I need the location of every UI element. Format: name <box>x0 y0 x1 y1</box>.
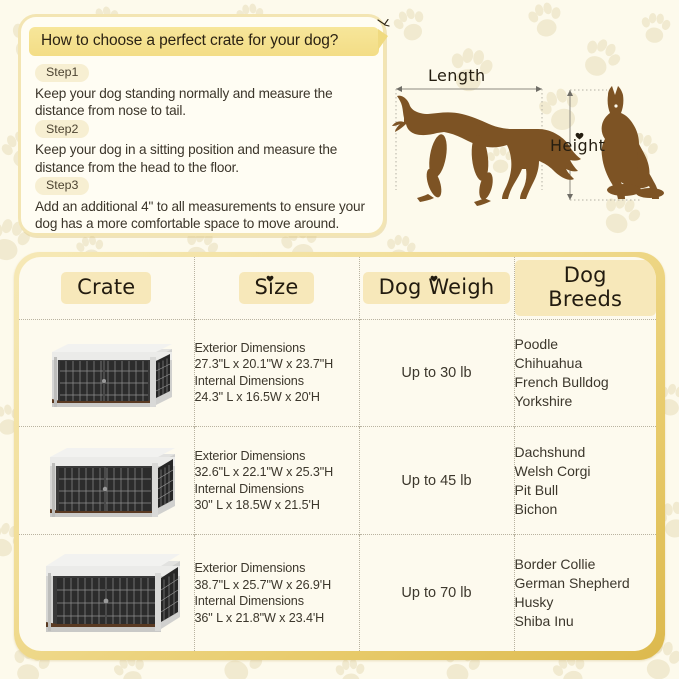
header-cell-crate: Crate <box>19 257 194 319</box>
height-label: Height <box>550 136 605 155</box>
header-cell-size: Size <box>194 257 359 319</box>
breed-item: Pit Bull <box>515 481 657 500</box>
crate-image-cell <box>19 535 194 651</box>
medium-wooden-dog-crate-icon <box>30 435 182 527</box>
step-badge: Step2 <box>35 120 89 138</box>
breeds-cell: Poodle Chihuahua French Bulldog Yorkshir… <box>514 319 656 427</box>
weight-cell: Up to 45 lb <box>359 427 514 535</box>
measurement-diagram: Length Height <box>392 50 670 245</box>
sparkle-icon <box>377 19 391 31</box>
crate-image-cell <box>19 427 194 535</box>
size-line: 27.3"L x 20.1"W x 23.7"H <box>195 356 359 373</box>
breed-item: Dachshund <box>515 443 657 462</box>
breed-item: Husky <box>515 593 657 612</box>
instruction-title: How to choose a perfect crate for your d… <box>29 27 379 56</box>
sitting-dog-silhouette <box>602 86 664 199</box>
crate-spec-table: Crate Size Dog Weigh <box>19 257 656 651</box>
instruction-title-text: How to choose a perfect crate for your d… <box>41 32 338 49</box>
size-line: Internal Dimensions <box>195 373 359 390</box>
table-row: Exterior Dimensions 32.6"L x 22.1"W x 25… <box>19 427 656 535</box>
size-cell: Exterior Dimensions 38.7"L x 25.7"W x 26… <box>194 535 359 651</box>
heart-icon <box>266 275 274 282</box>
step-item: Step1 Keep your dog standing normally an… <box>35 63 369 120</box>
small-wooden-dog-crate-icon <box>30 327 182 419</box>
table-row: Exterior Dimensions 27.3"L x 20.1"W x 23… <box>19 319 656 427</box>
header-pill-breeds: Dog Breeds <box>515 260 657 316</box>
header-cell-weight: Dog Weigh <box>359 257 514 319</box>
header-size-text: Size <box>255 275 299 299</box>
breed-item: French Bulldog <box>515 373 657 392</box>
weight-value: Up to 30 lb <box>401 365 471 381</box>
header-pill-crate: Crate <box>61 272 151 304</box>
heart-icon <box>575 132 584 140</box>
crate-spec-table-wrapper: Crate Size Dog Weigh <box>19 257 656 651</box>
breed-item: Shiba Inu <box>515 612 657 631</box>
crate-spec-panel: Crate Size Dog Weigh <box>14 252 665 660</box>
size-cell: Exterior Dimensions 27.3"L x 20.1"W x 23… <box>194 319 359 427</box>
step-badge: Step1 <box>35 64 89 82</box>
crate-image-cell <box>19 319 194 427</box>
size-line: Internal Dimensions <box>195 481 359 498</box>
instruction-panel: How to choose a perfect crate for your d… <box>18 14 386 236</box>
size-line: Exterior Dimensions <box>195 560 359 577</box>
breed-item: Poodle <box>515 335 657 354</box>
weight-cell: Up to 30 lb <box>359 319 514 427</box>
step-list: Step1 Keep your dog standing normally an… <box>35 63 369 233</box>
breed-item: Welsh Corgi <box>515 462 657 481</box>
size-cell: Exterior Dimensions 32.6"L x 22.1"W x 25… <box>194 427 359 535</box>
weight-cell: Up to 70 lb <box>359 535 514 651</box>
breed-item: Yorkshire <box>515 392 657 411</box>
table-header-row: Crate Size Dog Weigh <box>19 257 656 319</box>
length-label: Length <box>428 66 486 85</box>
weight-value: Up to 70 lb <box>401 585 471 601</box>
weight-value: Up to 45 lb <box>401 473 471 489</box>
step-item: Step3 Add an additional 4" to all measur… <box>35 176 369 233</box>
header-pill-size: Size <box>239 272 315 304</box>
breed-item: Chihuahua <box>515 354 657 373</box>
breeds-cell: Border Collie German Shepherd Husky Shib… <box>514 535 656 651</box>
breed-item: Border Collie <box>515 555 657 574</box>
size-line: Exterior Dimensions <box>195 448 359 465</box>
step-item: Step2 Keep your dog in a sitting positio… <box>35 120 369 177</box>
size-line: 38.7"L x 25.7"W x 26.9'H <box>195 577 359 594</box>
title-notch-icon <box>378 29 388 50</box>
size-line: 24.3" L x 16.5W x 20'H <box>195 389 359 406</box>
breeds-cell: Dachshund Welsh Corgi Pit Bull Bichon <box>514 427 656 535</box>
step-badge: Step3 <box>35 177 89 195</box>
table-body: Exterior Dimensions 27.3"L x 20.1"W x 23… <box>19 319 656 651</box>
step-description: Add an additional 4" to all measurements… <box>35 198 369 233</box>
size-line: 30" L x 18.5W x 21.5'H <box>195 497 359 514</box>
header-cell-breeds: Dog Breeds <box>514 257 656 319</box>
size-line: 32.6"L x 22.1"W x 25.3"H <box>195 464 359 481</box>
breed-item: Bichon <box>515 500 657 519</box>
step-description: Keep your dog standing normally and meas… <box>35 85 369 120</box>
step-description: Keep your dog in a sitting position and … <box>35 141 369 176</box>
header-pill-weight: Dog Weigh <box>363 272 511 304</box>
breed-item: German Shepherd <box>515 574 657 593</box>
table-row: Exterior Dimensions 38.7"L x 25.7"W x 26… <box>19 535 656 651</box>
large-wooden-dog-crate-icon <box>30 543 182 643</box>
size-line: 36" L x 21.8"W x 23.4'H <box>195 610 359 627</box>
size-line: Internal Dimensions <box>195 593 359 610</box>
heart-icon <box>430 275 438 282</box>
size-line: Exterior Dimensions <box>195 340 359 357</box>
